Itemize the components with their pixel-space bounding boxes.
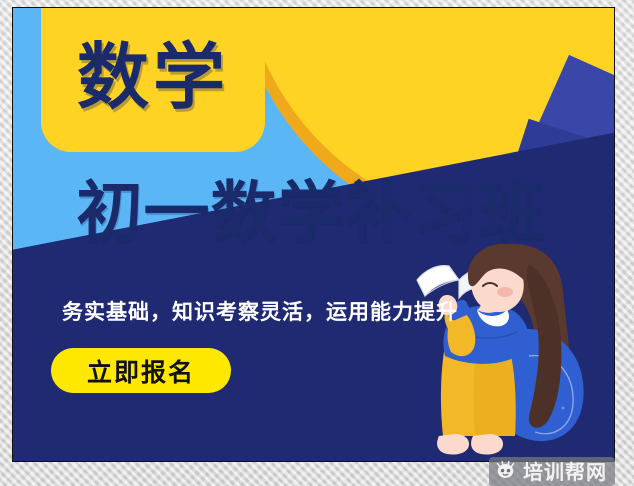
course-promo-poster: 数学 初一数学补习班 务实基础，知识考察灵活，运用能力提升 立即报名 (12, 7, 615, 462)
enroll-now-button[interactable]: 立即报名 (51, 348, 231, 393)
poster-subtitle: 务实基础，知识考察灵活，运用能力提升 (25, 296, 495, 326)
site-watermark: 培训帮网 (489, 457, 615, 486)
seated-woman-reading-illustration (411, 240, 615, 462)
subject-badge: 数学 (41, 7, 265, 152)
watermark-text: 培训帮网 (523, 462, 607, 482)
page-title: 初一数学补习班 (21, 178, 601, 247)
subject-badge-label: 数学 (77, 41, 229, 113)
sun-face-icon (495, 461, 516, 482)
